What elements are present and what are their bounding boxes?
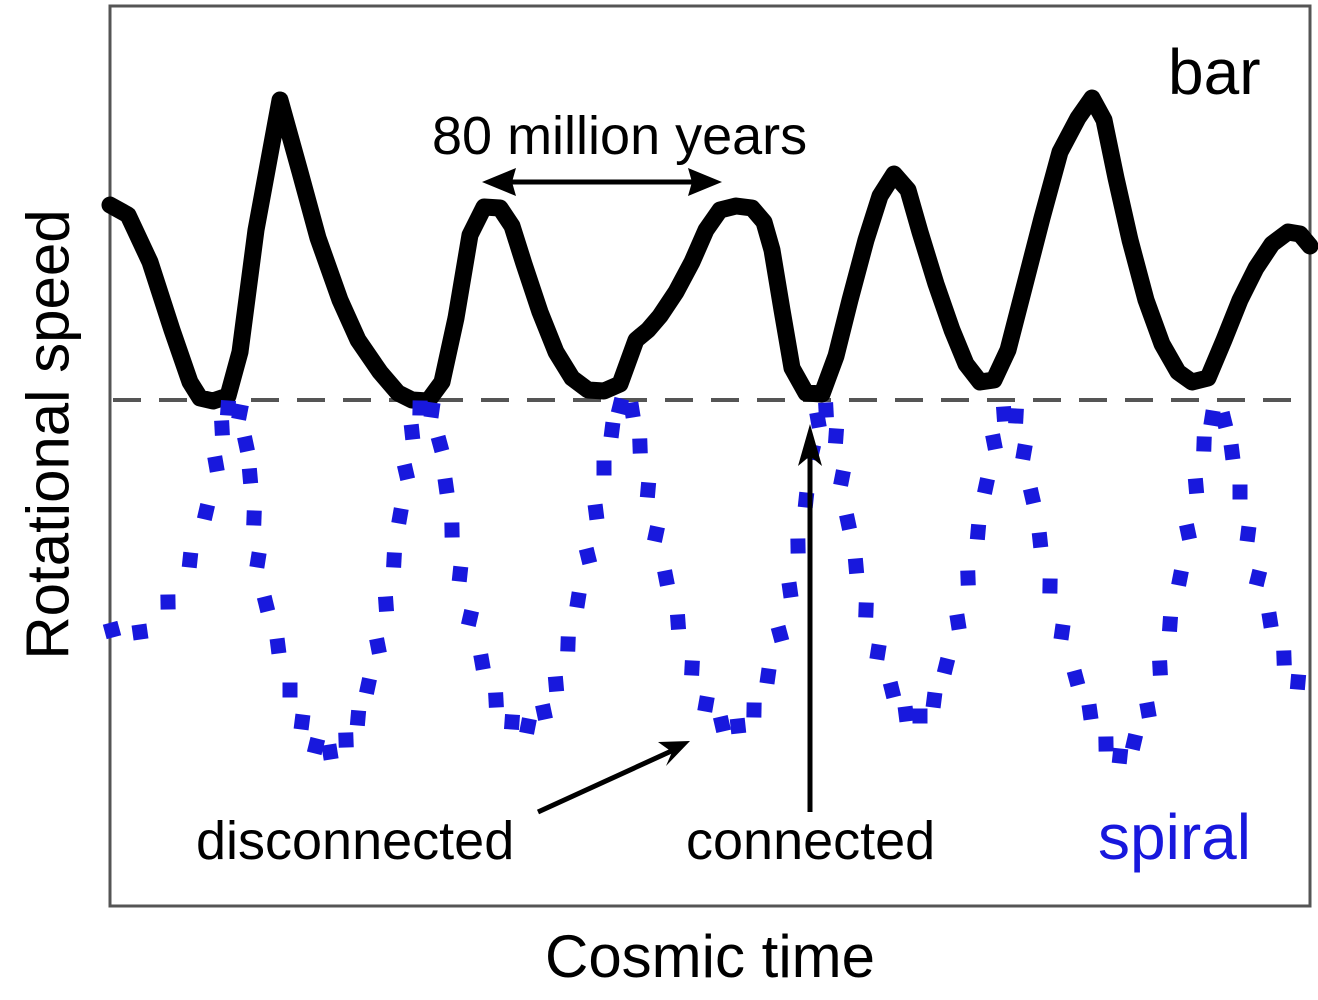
spiral-data-point [294,714,311,731]
spiral-data-point [1240,526,1257,543]
spiral-data-point [604,422,621,439]
spiral-data-point [519,717,537,735]
spiral-data-point [378,596,394,612]
spiral-data-point [623,401,640,418]
spiral-data-point [833,469,851,487]
spiral-data-point [1139,701,1156,718]
spiral-data-point [828,428,844,444]
spiral-data-point [452,566,468,582]
spiral-data-point [1196,436,1212,452]
spiral-data-point [632,438,648,454]
spiral-data-point [391,507,408,524]
spiral-data-point [132,624,149,641]
spiral-data-point [369,637,387,655]
spiral-data-point [977,477,995,495]
spiral-data-point [488,692,504,708]
spiral-data-point [684,660,700,676]
spiral-data-point [207,455,224,472]
spiral-data-point [1015,443,1032,460]
spiral-data-point [970,524,986,540]
period-annotation-label: 80 million years [432,105,807,167]
spiral-data-point [1032,532,1048,548]
spiral-data-point [1276,650,1292,666]
bar-series-label: bar [1168,35,1261,109]
spiral-data-point [1261,611,1278,628]
spiral-data-point [1162,616,1178,632]
spiral-data-point [818,402,834,418]
spiral-data-point [1290,674,1306,690]
spiral-data-point [242,468,258,484]
spiral-data-point [790,538,805,553]
disconnected-annotation-label: disconnected [196,810,514,872]
spiral-data-point [404,424,420,440]
spiral-data-point [321,743,338,760]
spiral-data-point [597,461,612,476]
spiral-data-point [657,569,675,587]
spiral-data-point [270,638,287,655]
spiral-data-point [1042,578,1057,593]
spiral-data-point [588,504,605,521]
spiral-data-point [1171,569,1189,587]
spiral-data-point [438,478,455,495]
connected-annotation-label: connected [686,810,935,872]
spiral-data-point [473,653,490,670]
spiral-series-label: spiral [1098,800,1251,874]
spiral-data-point [350,710,366,726]
spiral-data-point [548,676,564,692]
spiral-data-point [746,702,761,717]
spiral-data-point [848,558,864,574]
spiral-data-point [338,732,354,748]
spiral-data-point [1152,660,1168,676]
spiral-data-point [246,510,262,526]
spiral-data-point [569,591,586,608]
spiral-data-point [1112,748,1128,764]
spiral-data-point [697,695,714,712]
spiral-data-point [869,643,886,660]
spiral-data-point [1179,523,1197,541]
spiral-data-point [283,683,298,698]
spiral-data-point [1188,478,1204,494]
spiral-data-point [444,522,459,537]
spiral-data-point [1224,444,1241,461]
spiral-data-point [386,552,402,568]
spiral-data-point [898,706,915,723]
spiral-data-point [670,614,686,630]
figure-container: Rotational speed Cosmic time 80 million … [0,0,1318,1000]
spiral-data-point [1233,485,1248,500]
spiral-data-point [237,435,255,453]
spiral-data-point [960,570,976,586]
spiral-data-point [560,636,576,652]
spiral-data-point [424,402,441,419]
spiral-data-point [160,594,175,609]
spiral-data-point [1098,736,1113,751]
spiral-data-point [640,482,656,498]
spiral-data-point [730,718,746,734]
spiral-data-point [535,703,553,721]
spiral-data-point [249,551,266,568]
spiral-data-point [1054,624,1071,641]
spiral-data-point [926,692,943,709]
spiral-data-point [949,613,966,630]
spiral-data-point [359,677,377,695]
spiral-data-point [782,582,799,599]
spiral-data-point [985,433,1003,451]
spiral-data-point [1008,408,1024,424]
spiral-data-point [913,709,928,724]
spiral-data-point [858,602,874,618]
spiral-data-point [231,403,249,421]
spiral-data-point [214,420,230,436]
spiral-data-point [839,513,857,531]
spiral-data-point [182,552,198,568]
spiral-data-point [647,525,665,543]
spiral-data-point [1082,704,1099,721]
spiral-data-point [760,668,777,685]
spiral-data-point [504,714,520,730]
